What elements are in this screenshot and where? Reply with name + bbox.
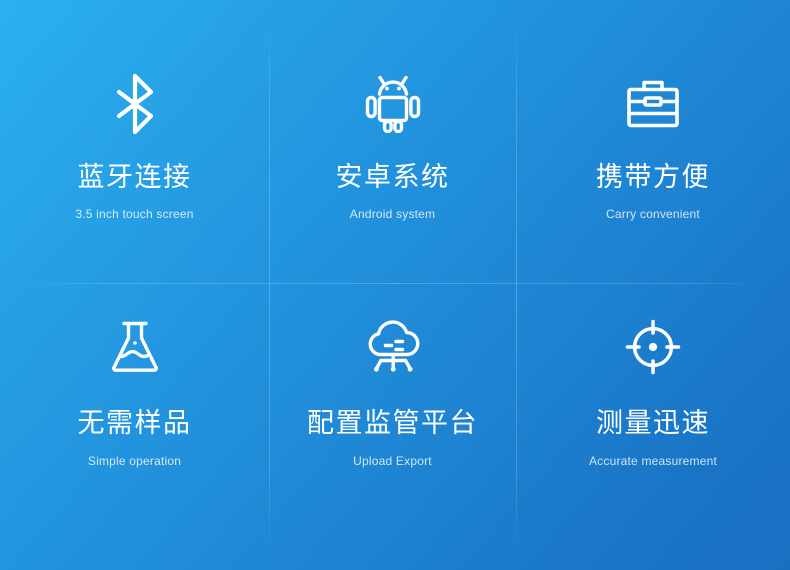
cloud-network-icon bbox=[362, 315, 424, 379]
feature-title: 蓝牙连接 bbox=[78, 164, 192, 191]
briefcase-icon bbox=[625, 73, 681, 135]
feature-subtitle: Accurate measurement bbox=[589, 455, 717, 467]
feature-cell-bluetooth: 蓝牙连接 3.5 inch touch screen bbox=[0, 0, 269, 283]
feature-cell-portable: 携带方便 Carry convenient bbox=[516, 0, 790, 283]
feature-title: 携带方便 bbox=[596, 164, 710, 191]
feature-subtitle: Carry convenient bbox=[606, 208, 700, 220]
crosshair-target-icon bbox=[625, 315, 681, 379]
feature-title: 配置监管平台 bbox=[307, 410, 478, 437]
feature-cell-android: 安卓系统 Android system bbox=[269, 0, 516, 283]
feature-title: 测量迅速 bbox=[596, 410, 710, 437]
feature-title: 无需样品 bbox=[78, 410, 192, 437]
feature-grid: 蓝牙连接 3.5 inch touch screen bbox=[0, 0, 790, 570]
feature-subtitle: 3.5 inch touch screen bbox=[75, 208, 193, 220]
feature-title: 安卓系统 bbox=[336, 164, 450, 191]
flask-icon bbox=[109, 315, 161, 379]
feature-cell-platform: 配置监管平台 Upload Export bbox=[269, 283, 516, 570]
feature-subtitle: Simple operation bbox=[88, 455, 181, 467]
feature-cell-fast-measure: 测量迅速 Accurate measurement bbox=[516, 283, 790, 570]
feature-board: 蓝牙连接 3.5 inch touch screen bbox=[0, 0, 790, 570]
feature-cell-no-sample: 无需样品 Simple operation bbox=[0, 283, 269, 570]
bluetooth-icon bbox=[113, 73, 157, 135]
feature-subtitle: Android system bbox=[350, 208, 436, 220]
android-robot-icon bbox=[363, 73, 423, 135]
feature-subtitle: Upload Export bbox=[353, 455, 432, 467]
